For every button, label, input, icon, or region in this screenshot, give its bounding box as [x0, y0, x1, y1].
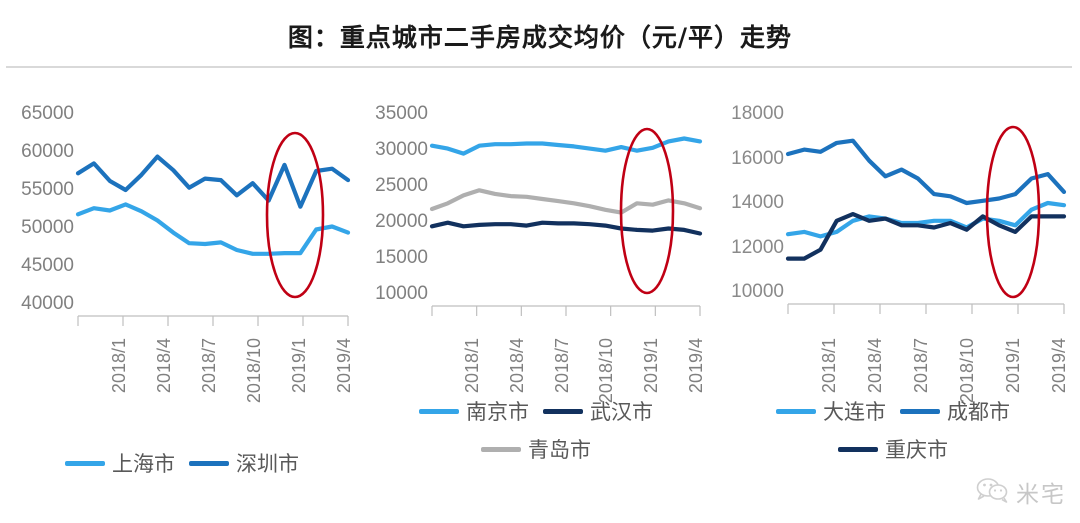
x-tick-label: 2019/1 [641, 338, 662, 393]
legend-label: 青岛市 [528, 434, 591, 464]
legend-label: 武汉市 [590, 396, 653, 426]
x-tick-label: 2019/4 [686, 338, 707, 393]
legend-label: 大连市 [823, 396, 886, 426]
legend-color-swatch [776, 409, 816, 414]
watermark: 米宅 [976, 475, 1066, 509]
chart-panel-shanghai-shenzhen: 650006000055000500004500040000 2018/1201… [6, 96, 358, 516]
legend-label: 上海市 [112, 448, 175, 478]
chart-legend: 大连市成都市重庆市 [712, 396, 1074, 472]
legend-color-swatch [65, 461, 105, 466]
legend-row: 上海市深圳市 [6, 448, 358, 478]
series-line [78, 157, 348, 207]
chart-legend: 上海市深圳市 [6, 448, 358, 486]
legend-item[interactable]: 深圳市 [189, 448, 299, 478]
series-line [432, 190, 700, 212]
legend-item[interactable]: 上海市 [65, 448, 175, 478]
x-tick-label: 2018/10 [596, 338, 617, 403]
legend-item[interactable]: 南京市 [419, 396, 529, 426]
x-tick-label: 2019/1 [289, 338, 310, 393]
x-tick-label: 2018/1 [819, 338, 840, 393]
x-tick-label: 2019/4 [1049, 338, 1070, 393]
plot-area [362, 96, 710, 328]
plot-area [6, 96, 358, 328]
legend-color-swatch [838, 447, 878, 452]
legend-row: 青岛市 [362, 434, 710, 464]
x-axis-labels: 2018/12018/42018/72018/102019/12019/4 [6, 332, 358, 442]
x-tick-label: 2018/7 [199, 338, 220, 393]
x-tick-label: 2019/1 [1003, 338, 1024, 393]
page-title: 图：重点城市二手房成交均价（元/平）走势 [288, 23, 792, 52]
x-tick-label: 2018/1 [109, 338, 130, 393]
series-line [788, 141, 1064, 203]
title-divider [6, 66, 1072, 68]
chart-panel-dalian-chengdu-chongqing: 1800016000140001200010000 2018/12018/420… [712, 96, 1074, 516]
legend-color-swatch [543, 409, 583, 414]
x-tick-label: 2018/10 [957, 338, 978, 403]
watermark-text: 米宅 [1016, 475, 1066, 509]
annotation-ellipse [267, 133, 323, 297]
legend-item[interactable]: 重庆市 [838, 434, 948, 464]
legend-color-swatch [189, 461, 229, 466]
legend-label: 重庆市 [885, 434, 948, 464]
legend-label: 成都市 [947, 396, 1010, 426]
x-tick-label: 2019/4 [334, 338, 355, 393]
legend-row: 大连市成都市 [712, 396, 1074, 426]
x-tick-label: 2018/4 [507, 338, 528, 393]
wechat-icon [976, 477, 1010, 508]
x-tick-label: 2018/4 [865, 338, 886, 393]
annotation-ellipse [621, 129, 673, 293]
legend-item[interactable]: 武汉市 [543, 396, 653, 426]
legend-row: 南京市武汉市 [362, 396, 710, 426]
x-tick-label: 2018/7 [911, 338, 932, 393]
legend-item[interactable]: 青岛市 [481, 434, 591, 464]
plot-area [712, 96, 1074, 328]
legend-color-swatch [481, 447, 521, 452]
x-tick-label: 2018/4 [154, 338, 175, 393]
x-tick-label: 2018/1 [462, 338, 483, 393]
series-line [432, 223, 700, 234]
series-line [78, 204, 348, 253]
legend-color-swatch [419, 409, 459, 414]
chart-page: 图：重点城市二手房成交均价（元/平）走势 6500060000550005000… [0, 0, 1080, 523]
chart-legend: 南京市武汉市青岛市 [362, 396, 710, 472]
legend-row: 重庆市 [712, 434, 1074, 464]
x-tick-label: 2018/7 [552, 338, 573, 393]
chart-panel-nanjing-wuhan-qingdao: 350003000025000200001500010000 2018/1201… [362, 96, 710, 516]
legend-color-swatch [900, 409, 940, 414]
legend-item[interactable]: 大连市 [776, 396, 886, 426]
legend-label: 南京市 [466, 396, 529, 426]
legend-item[interactable]: 成都市 [900, 396, 1010, 426]
legend-label: 深圳市 [236, 448, 299, 478]
x-tick-label: 2018/10 [244, 338, 265, 403]
figure-title-container: 图：重点城市二手房成交均价（元/平）走势 [0, 18, 1080, 54]
